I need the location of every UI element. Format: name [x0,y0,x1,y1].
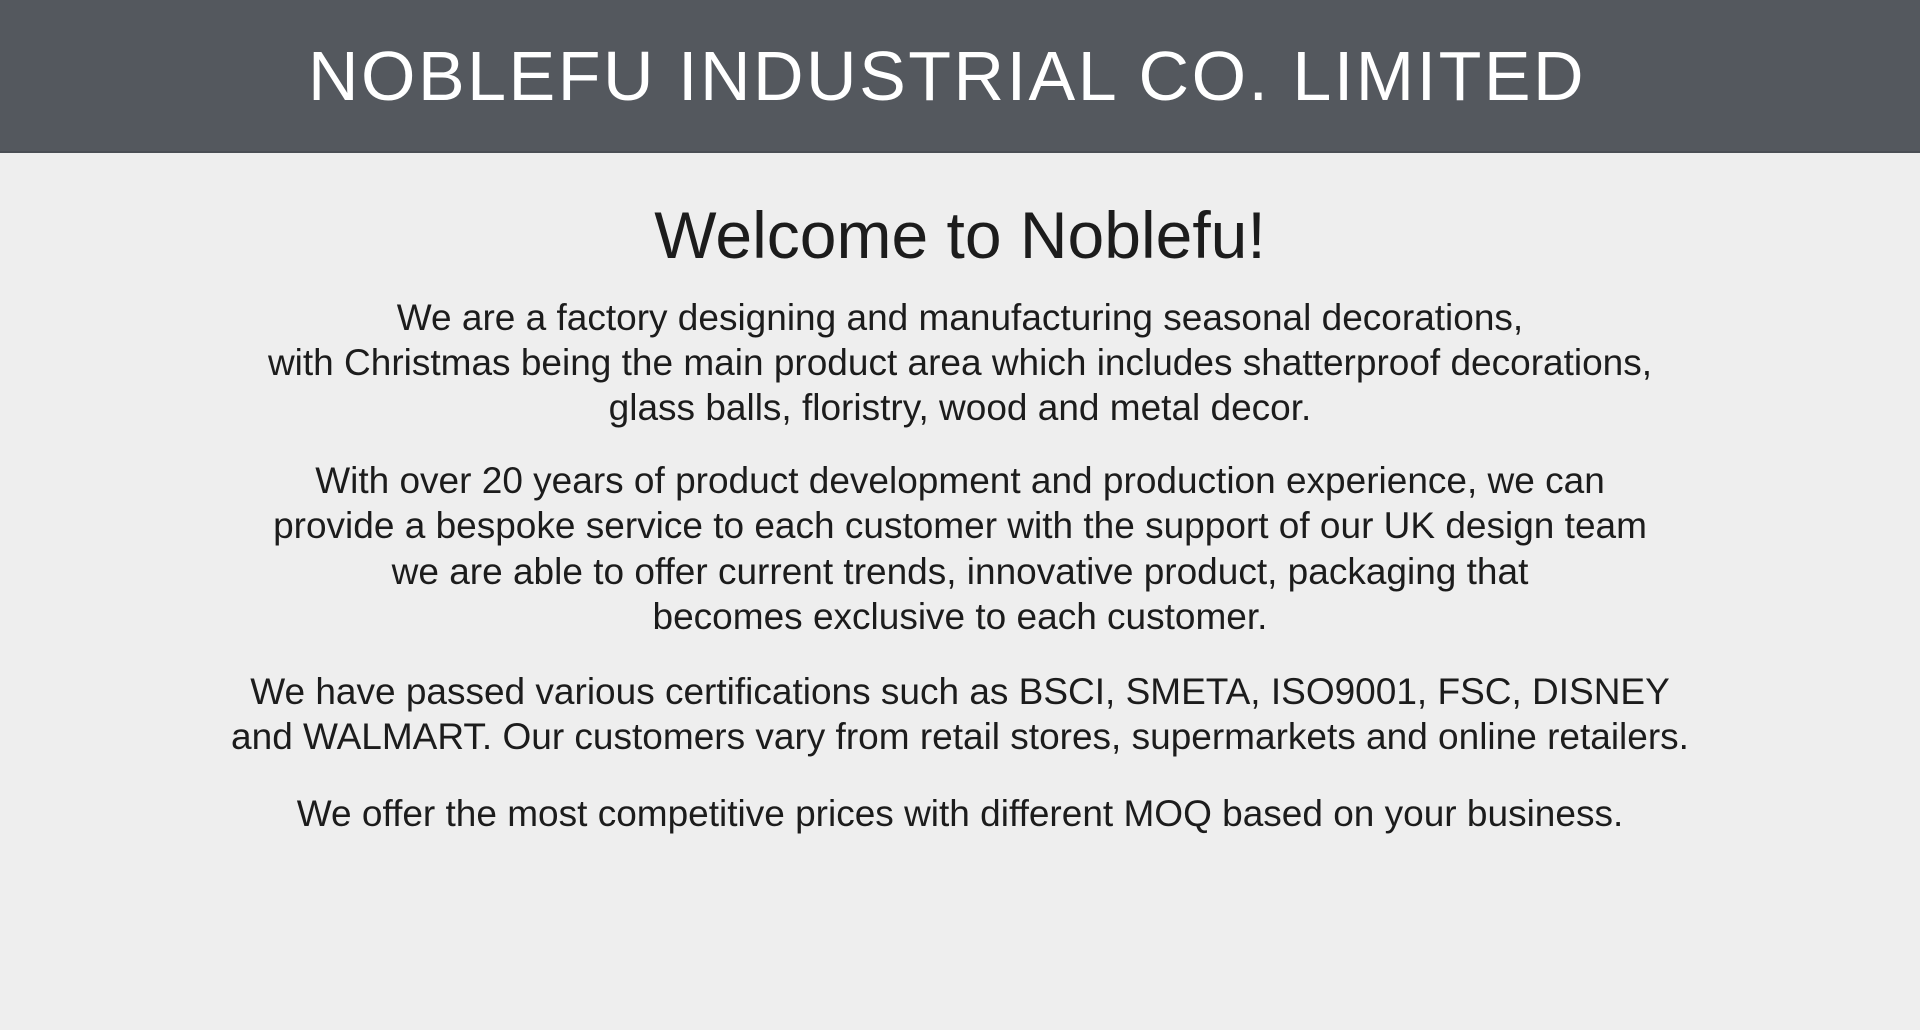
paragraph-experience: With over 20 years of product developmen… [18,430,1902,639]
paragraph-pricing: We offer the most competitive prices wit… [18,759,1902,836]
company-title: NOBLEFU INDUSTRIAL CO. LIMITED [308,41,1612,111]
welcome-heading: Welcome to Noblefu! [18,153,1902,273]
company-profile-page: NOBLEFU INDUSTRIAL CO. LIMITED Welcome t… [0,0,1920,1030]
header-band: NOBLEFU INDUSTRIAL CO. LIMITED [0,0,1920,153]
paragraph-certifications: We have passed various certifications su… [18,639,1902,759]
paragraph-intro: We are a factory designing and manufactu… [18,273,1902,430]
main-content: Welcome to Noblefu! We are a factory des… [0,153,1920,1030]
